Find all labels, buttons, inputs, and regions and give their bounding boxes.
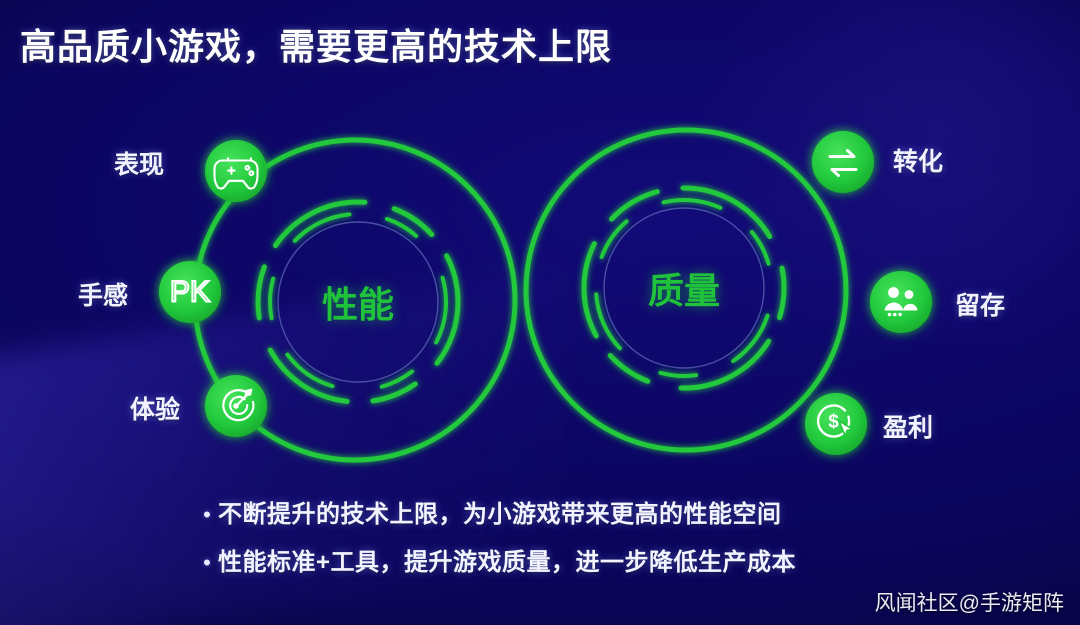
left-core-label: 性能 xyxy=(322,276,394,328)
slide-canvas: 高品质小游戏，需要更高的技术上限 xyxy=(0,0,1080,625)
right-cluster: $ xyxy=(526,130,932,455)
right-node-label-zhuanhua: 转化 xyxy=(893,142,943,178)
pk-icon: PK xyxy=(170,276,210,309)
bullet-text: 不断提升的技术上限，为小游戏带来更高的性能空间 xyxy=(218,498,782,532)
left-node-label-shougan: 手感 xyxy=(78,276,128,312)
bullet-marker: • xyxy=(196,546,218,580)
right-node-zhuanhua[interactable] xyxy=(812,131,874,193)
list-item: • 不断提升的技术上限，为小游戏带来更高的性能空间 xyxy=(196,498,956,532)
left-node-biaoxian[interactable] xyxy=(205,140,267,202)
right-core-label: 质量 xyxy=(648,262,720,314)
right-node-label-liucun: 留存 xyxy=(955,286,1005,322)
left-node-tiyan[interactable] xyxy=(205,375,267,437)
right-node-label-yingli: 盈利 xyxy=(883,408,933,444)
left-node-label-biaoxian: 表现 xyxy=(114,145,164,181)
left-node-label-tiyan: 体验 xyxy=(130,390,180,426)
right-node-liucun[interactable] xyxy=(870,271,932,333)
bullet-list: • 不断提升的技术上限，为小游戏带来更高的性能空间 • 性能标准+工具，提升游戏… xyxy=(196,498,956,594)
bullet-text: 性能标准+工具，提升游戏质量，进一步降低生产成本 xyxy=(218,546,796,580)
watermark: 风闻社区@手游矩阵 xyxy=(875,587,1064,617)
list-item: • 性能标准+工具，提升游戏质量，进一步降低生产成本 xyxy=(196,546,956,580)
right-node-yingli[interactable]: $ xyxy=(805,393,867,455)
svg-text:$: $ xyxy=(828,412,839,433)
left-node-shougan[interactable]: PK xyxy=(159,261,221,323)
bullet-marker: • xyxy=(196,498,218,532)
